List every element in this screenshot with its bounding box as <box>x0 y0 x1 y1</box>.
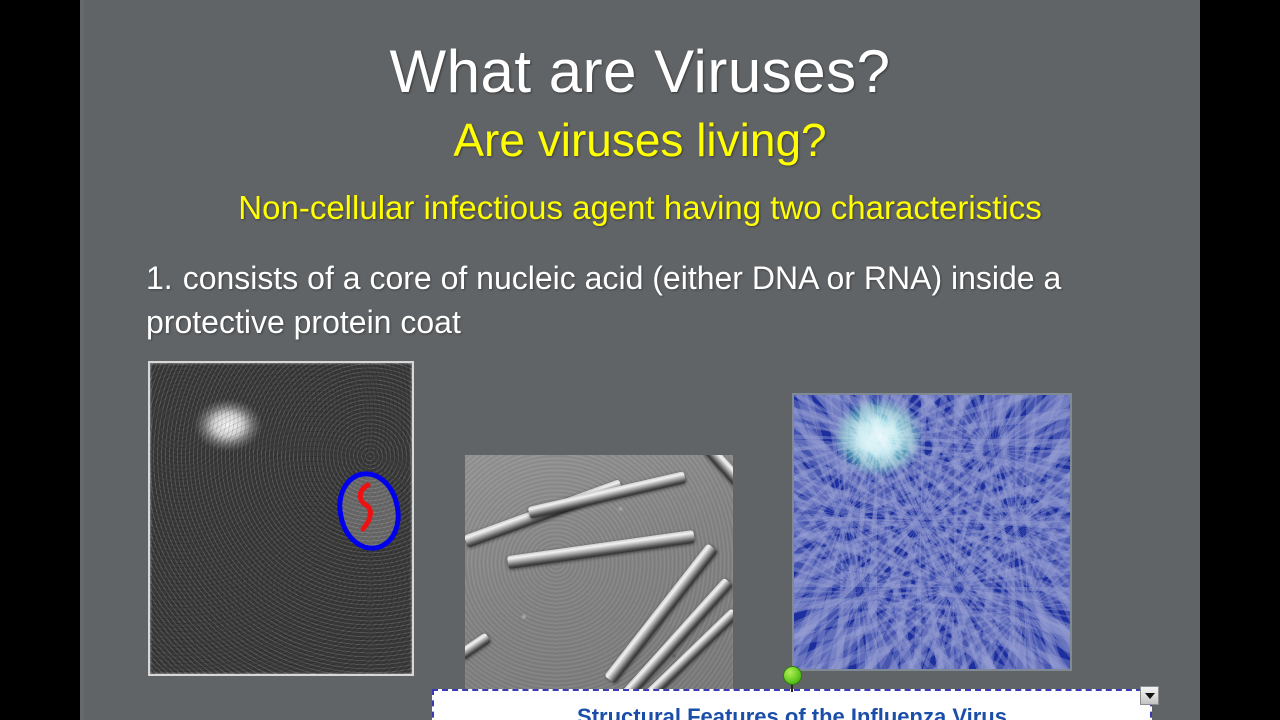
figure-rod-shaped-virions[interactable] <box>465 455 733 700</box>
text-box-caption: Structural Features of the Influenza Vir… <box>440 697 1144 720</box>
rotation-handle-knob[interactable] <box>783 666 802 685</box>
text-box-inner[interactable]: Structural Features of the Influenza Vir… <box>440 697 1144 720</box>
chevron-down-button[interactable] <box>1140 686 1159 705</box>
chevron-down-icon <box>1145 693 1155 699</box>
virion-spike-texture <box>794 395 1070 669</box>
body-list-item-1: 1.consists of a core of nucleic acid (ei… <box>146 256 1166 344</box>
screen: What are Viruses? Are viruses living? No… <box>0 0 1280 720</box>
list-number: 1. <box>146 260 173 296</box>
slide-left-seam <box>80 0 84 720</box>
annotation-nucleic-acid-squiggle-icon <box>348 481 384 533</box>
letterbox-right <box>1200 0 1280 720</box>
figure-influenza-colorized[interactable] <box>792 393 1072 671</box>
list-item-text: consists of a core of nucleic acid (eith… <box>146 260 1061 340</box>
rotation-handle[interactable] <box>783 666 801 692</box>
slide-tagline: Non-cellular infectious agent having two… <box>80 186 1200 230</box>
slide-subtitle: Are viruses living? <box>80 112 1200 168</box>
letterbox-left <box>0 0 80 720</box>
slide-title: What are Viruses? <box>80 38 1200 106</box>
selected-text-box[interactable]: Structural Features of the Influenza Vir… <box>432 689 1152 720</box>
presentation-slide[interactable]: What are Viruses? Are viruses living? No… <box>80 0 1200 720</box>
figure-influenza-em-grayscale[interactable] <box>148 361 414 676</box>
